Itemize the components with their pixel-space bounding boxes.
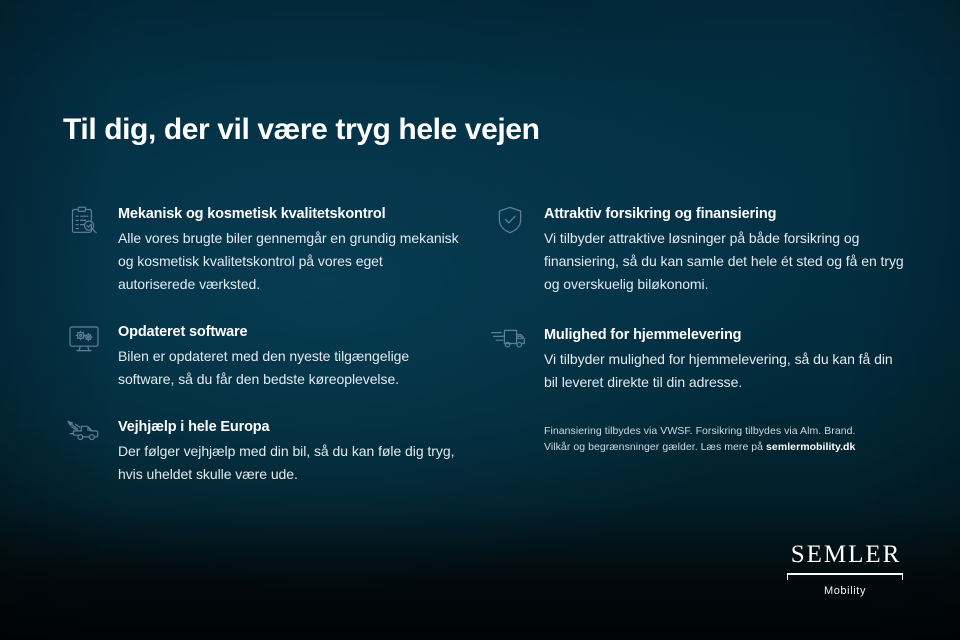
clipboard-check-magnifier-icon [63, 204, 105, 246]
feature-item-home-delivery: Mulighed for hjemmelevering Vi tilbyder … [489, 325, 909, 394]
logo-wordmark: SEMLER [787, 541, 903, 568]
feature-heading: Mekanisk og kosmetisk kvalitetskontrol [118, 204, 463, 224]
fineprint-line-2-text: Vilkår og begrænsninger gælder. Læs mere… [544, 441, 766, 453]
feature-column-right: Attraktiv forsikring og finansiering Vi … [489, 204, 909, 455]
fineprint-line-1: Finansiering tilbydes via VWSF. Forsikri… [544, 423, 909, 439]
semler-mobility-logo: SEMLER Mobility [787, 541, 903, 598]
feature-heading: Mulighed for hjemmelevering [544, 325, 909, 345]
feature-heading: Opdateret software [118, 322, 463, 342]
logo-divider-rule [787, 573, 903, 580]
feature-item-insurance-financing: Attraktiv forsikring og finansiering Vi … [489, 204, 909, 296]
slide-root: Til dig, der vil være tryg hele vejen M [0, 0, 960, 640]
delivery-truck-icon [489, 325, 531, 367]
feature-body: Alle vores brugte biler gennemgår en gru… [118, 227, 463, 296]
page-title: Til dig, der vil være tryg hele vejen [63, 111, 540, 149]
fineprint-line-2: Vilkår og begrænsninger gælder. Læs mere… [544, 439, 909, 455]
feature-heading: Attraktiv forsikring og finansiering [544, 204, 909, 224]
feature-item-software-update: Opdateret software Bilen er opdateret me… [63, 322, 463, 391]
feature-body: Vi tilbyder attraktive løsninger på både… [544, 227, 909, 296]
semlermobility-link[interactable]: semlermobility.dk [766, 441, 855, 453]
feature-item-quality-control: Mekanisk og kosmetisk kvalitetskontrol A… [63, 204, 463, 296]
feature-heading: Vejhjælp i hele Europa [118, 417, 463, 437]
feature-body: Vi tilbyder mulighed for hjemmelevering,… [544, 348, 909, 394]
logo-subtitle: Mobility [787, 584, 903, 598]
monitor-gears-icon [63, 322, 105, 364]
tow-truck-icon [63, 417, 105, 459]
feature-item-roadside-assistance: Vejhjælp i hele Europa Der følger vejhjæ… [63, 417, 463, 486]
feature-body: Der følger vejhjælp med din bil, så du k… [118, 440, 463, 486]
shield-check-icon [489, 204, 531, 246]
feature-column-left: Mekanisk og kosmetisk kvalitetskontrol A… [63, 204, 463, 486]
legal-fineprint: Finansiering tilbydes via VWSF. Forsikri… [489, 423, 909, 455]
feature-body: Bilen er opdateret med den nyeste tilgæn… [118, 345, 463, 391]
